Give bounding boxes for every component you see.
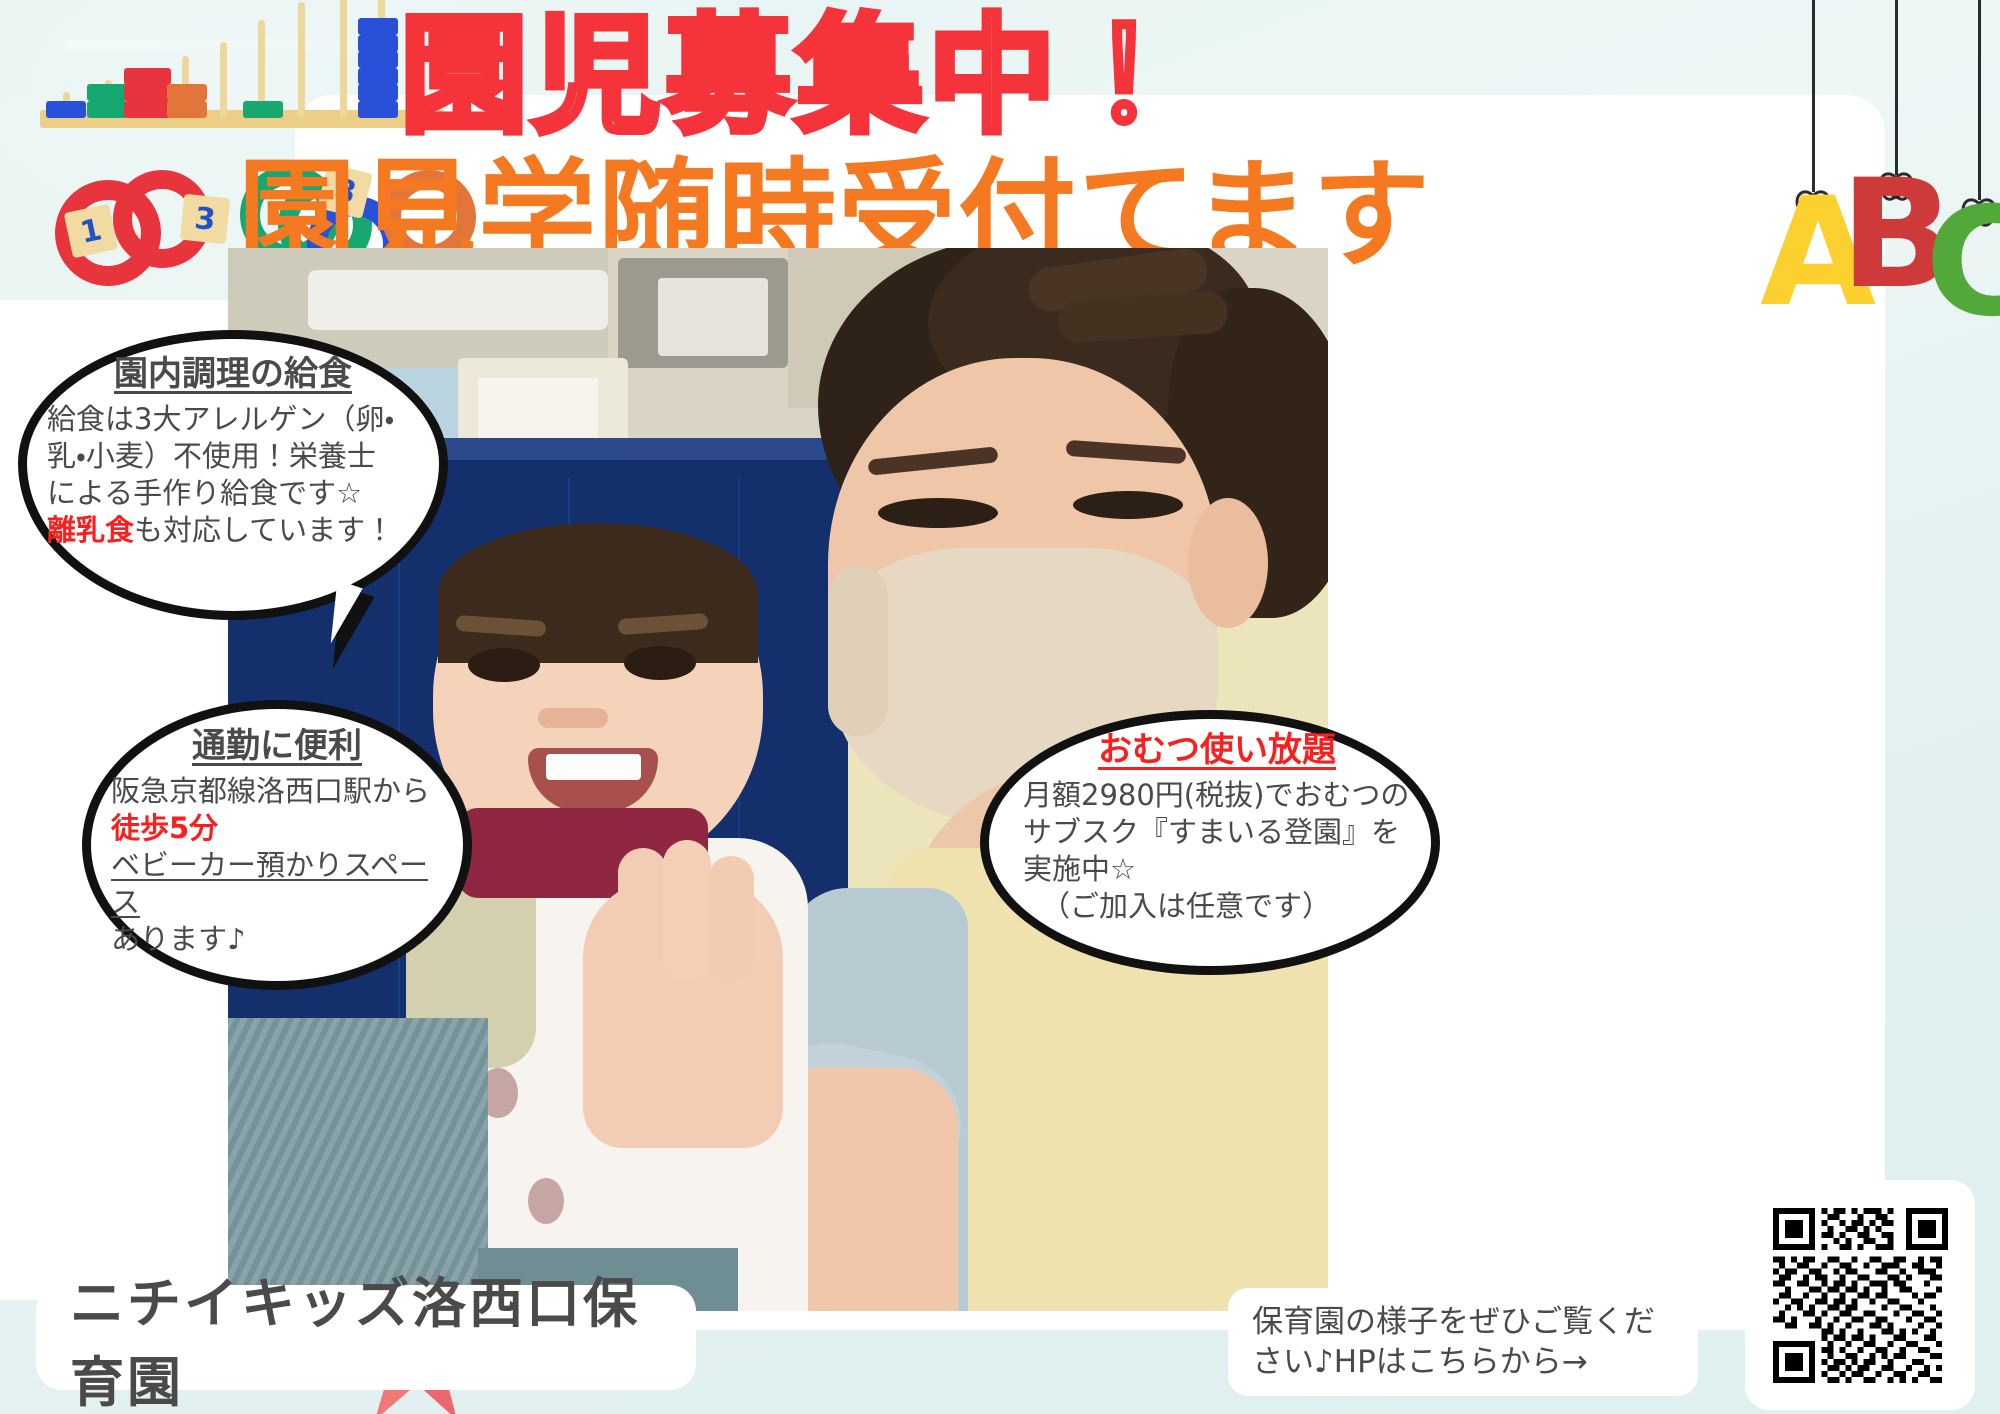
bubble-commute-line-1: 阪急京都線洛西口駅から (111, 773, 443, 810)
bubble-lunch-title: 園内調理の給食 (47, 353, 419, 397)
bubble-diaper-line-2: サブスク『すまいる登園』を (1023, 814, 1411, 851)
bubble-diaper: おむつ使い放題 月額2980円(税抜)でおむつの サブスク『すまいる登園』を 実… (980, 710, 1440, 975)
bubble-commute-title: 通勤に便利 (111, 725, 443, 769)
hanging-string-c (1978, 0, 1981, 200)
qr-code-panel[interactable] (1745, 1180, 1975, 1410)
bubble-commute-highlight: 徒歩5分 (111, 810, 443, 847)
bubble-lunch-line-2: 乳・小麦）不使用！栄養士 (47, 438, 419, 475)
bubble-diaper-title: おむつ使い放題 (1023, 729, 1411, 773)
nursery-name-label: ニチイキッズ洛西口保育園 (70, 1259, 696, 1414)
qr-note-line-2: さい♪HPはこちらから→ (1252, 1342, 1698, 1382)
bubble-commute-text: 通勤に便利 阪急京都線洛西口駅から 徒歩5分 ベビーカー預かりスペース あります… (91, 709, 463, 981)
bubble-diaper-line-4: （ご加入は任意です） (1023, 888, 1411, 925)
abacus-decoration (10, 0, 370, 150)
bubble-diaper-text: おむつ使い放題 月額2980円(税抜)でおむつの サブスク『すまいる登園』を 実… (989, 719, 1431, 966)
hanging-letter-c: C (1925, 188, 2000, 338)
bubble-lunch-text: 園内調理の給食 給食は3大アレルゲン（卵・ 乳・小麦）不使用！栄養士 による手作… (27, 339, 439, 611)
bubble-diaper-line-3: 実施中☆ (1023, 851, 1411, 888)
bubble-commute: 通勤に便利 阪急京都線洛西口駅から 徒歩5分 ベビーカー預かりスペース あります… (82, 700, 472, 990)
qr-code-icon[interactable] (1773, 1208, 1948, 1383)
hanging-string-a (1812, 0, 1815, 192)
bubble-lunch-line-3: による手作り給食です☆ (47, 475, 419, 512)
bubble-lunch: 園内調理の給食 給食は3大アレルゲン（卵・ 乳・小麦）不使用！栄養士 による手作… (18, 330, 448, 620)
bubble-lunch-highlight: 離乳食 (47, 513, 134, 547)
bubble-lunch-line-1: 給食は3大アレルゲン（卵・ (47, 401, 419, 438)
number-tile-label: 1 (77, 212, 105, 251)
qr-note-line-1: 保育園の様子をぜひご覧くだ (1252, 1302, 1698, 1342)
nursery-name-plate: ニチイキッズ洛西口保育園 (36, 1285, 696, 1390)
bubble-commute-line-2: ベビーカー預かりスペース (111, 847, 443, 921)
bubble-commute-line-3: あります♪ (111, 921, 443, 958)
bubble-lunch-line-4: 離乳食も対応しています！ (47, 512, 419, 549)
qr-note-panel: 保育園の様子をぜひご覧くだ さい♪HPはこちらから→ (1228, 1288, 1698, 1396)
number-tile-label: 3 (193, 201, 217, 238)
number-tile-1: 1 (64, 204, 119, 259)
poster-root: 1 3 8 園児募集中！ 園見学随時受付てます A B C (0, 0, 2000, 1414)
headline-primary: 園児募集中！ (400, 8, 1192, 146)
number-tile-3: 3 (180, 194, 231, 245)
bubble-lunch-highlight-rest: も対応しています！ (134, 513, 394, 547)
bubble-diaper-line-1: 月額2980円(税抜)でおむつの (1023, 777, 1411, 814)
